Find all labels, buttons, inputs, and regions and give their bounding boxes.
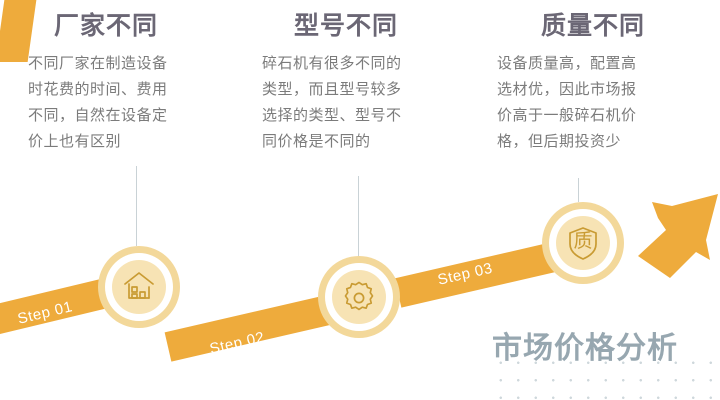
factory-house-icon xyxy=(119,267,159,307)
watermark-text: 市场价格分析 xyxy=(492,334,678,364)
column-3-line-1: 设备质量高，配置高 xyxy=(497,51,645,77)
step-02-badge-disc xyxy=(332,270,386,324)
column-1-line-1: 不同厂家在制造设备 xyxy=(28,51,168,77)
column-2-title: 型号不同 xyxy=(294,14,402,39)
content-column-3: 质量不同 设备质量高，配置高 选材优，因此市场报 价高于一般碎石机价 格，但后期… xyxy=(497,0,645,155)
step-03-badge: 质 xyxy=(542,202,624,284)
column-2-line-4: 同价格是不同的 xyxy=(262,129,402,155)
column-3-body: 设备质量高，配置高 选材优，因此市场报 价高于一般碎石机价 格，但后期投资少 xyxy=(497,51,645,155)
column-3-line-3: 价高于一般碎石机价 xyxy=(497,103,645,129)
column-2-line-1: 碎石机有很多不同的 xyxy=(262,51,402,77)
arrow-head-icon xyxy=(636,192,720,284)
step-02-badge xyxy=(318,256,400,338)
step-01-badge xyxy=(98,246,180,328)
watermark: 市场价格分析 xyxy=(492,334,678,364)
column-1-line-4: 价上也有区别 xyxy=(28,129,168,155)
column-1-line-3: 不同，自然在设备定 xyxy=(28,103,168,129)
shield-quality-glyph: 质 xyxy=(573,232,592,251)
column-3-line-4: 格，但后期投资少 xyxy=(497,129,645,155)
connector-line-2 xyxy=(358,176,359,256)
connector-line-3 xyxy=(578,178,579,202)
content-column-2: 型号不同 碎石机有很多不同的 类型，而且型号较多 选择的类型、型号不 同价格是不… xyxy=(262,0,402,155)
column-3-line-2: 选材优，因此市场报 xyxy=(497,77,645,103)
column-1-title: 厂家不同 xyxy=(54,14,168,39)
column-1-line-2: 时花费的时间、费用 xyxy=(28,77,168,103)
step-03-badge-disc: 质 xyxy=(556,216,610,270)
column-3-title: 质量不同 xyxy=(541,14,645,39)
column-1-body: 不同厂家在制造设备 时花费的时间、费用 不同，自然在设备定 价上也有区别 xyxy=(28,51,168,155)
column-2-line-3: 选择的类型、型号不 xyxy=(262,103,402,129)
step-01-badge-disc xyxy=(112,260,166,314)
gear-icon xyxy=(339,277,379,317)
infographic-canvas: 厂家不同 不同厂家在制造设备 时花费的时间、费用 不同，自然在设备定 价上也有区… xyxy=(0,0,720,400)
column-2-line-2: 类型，而且型号较多 xyxy=(262,77,402,103)
column-2-body: 碎石机有很多不同的 类型，而且型号较多 选择的类型、型号不 同价格是不同的 xyxy=(262,51,402,155)
connector-line-1 xyxy=(136,166,137,246)
content-column-1: 厂家不同 不同厂家在制造设备 时花费的时间、费用 不同，自然在设备定 价上也有区… xyxy=(28,0,168,155)
